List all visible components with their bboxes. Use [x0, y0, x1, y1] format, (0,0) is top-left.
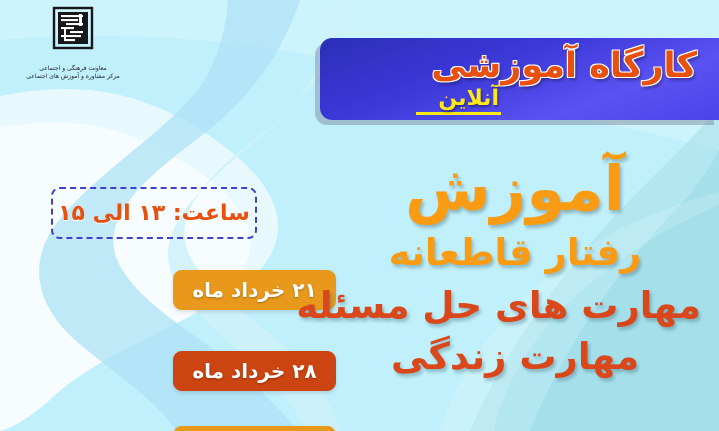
date-chip-label: ۲۸ خرداد ماه — [192, 359, 316, 383]
date-chip: ۴ تیر ماه — [173, 426, 336, 431]
title-banner: کارگاه آموزشی آنلاین — [320, 38, 719, 120]
headline-line-3: مهارت های حل مسئله — [329, 287, 701, 324]
time-badge: ساعت: ۱۳ الی ۱۵ — [51, 187, 257, 239]
date-chip: ۲۸ خرداد ماه — [173, 351, 336, 391]
headline-line-1: آموزش — [329, 158, 701, 220]
university-logo-block: معاونت فرهنگی و اجتماعی مرکز مشاوره و آم… — [18, 6, 128, 81]
time-badge-label: ساعت: ۱۳ الی ۱۵ — [58, 201, 250, 226]
headline-stack: آموزش رفتار قاطعانه مهارت های حل مسئله م… — [329, 158, 701, 375]
logo-caption-line-2: مرکز مشاوره و آموزش های اجتماعی — [18, 73, 128, 81]
logo-caption-line-1: معاونت فرهنگی و اجتماعی — [18, 65, 128, 73]
banner-main-title: کارگاه آموزشی — [431, 46, 697, 86]
banner-online-label: آنلاین — [416, 86, 501, 115]
headline-line-2: رفتار قاطعانه — [329, 234, 701, 271]
university-seal-icon — [46, 6, 100, 62]
poster-canvas: معاونت فرهنگی و اجتماعی مرکز مشاوره و آم… — [0, 0, 719, 431]
headline-line-4: مهارت‌ زندگی — [329, 338, 701, 375]
logo-caption: معاونت فرهنگی و اجتماعی مرکز مشاوره و آم… — [18, 65, 128, 81]
